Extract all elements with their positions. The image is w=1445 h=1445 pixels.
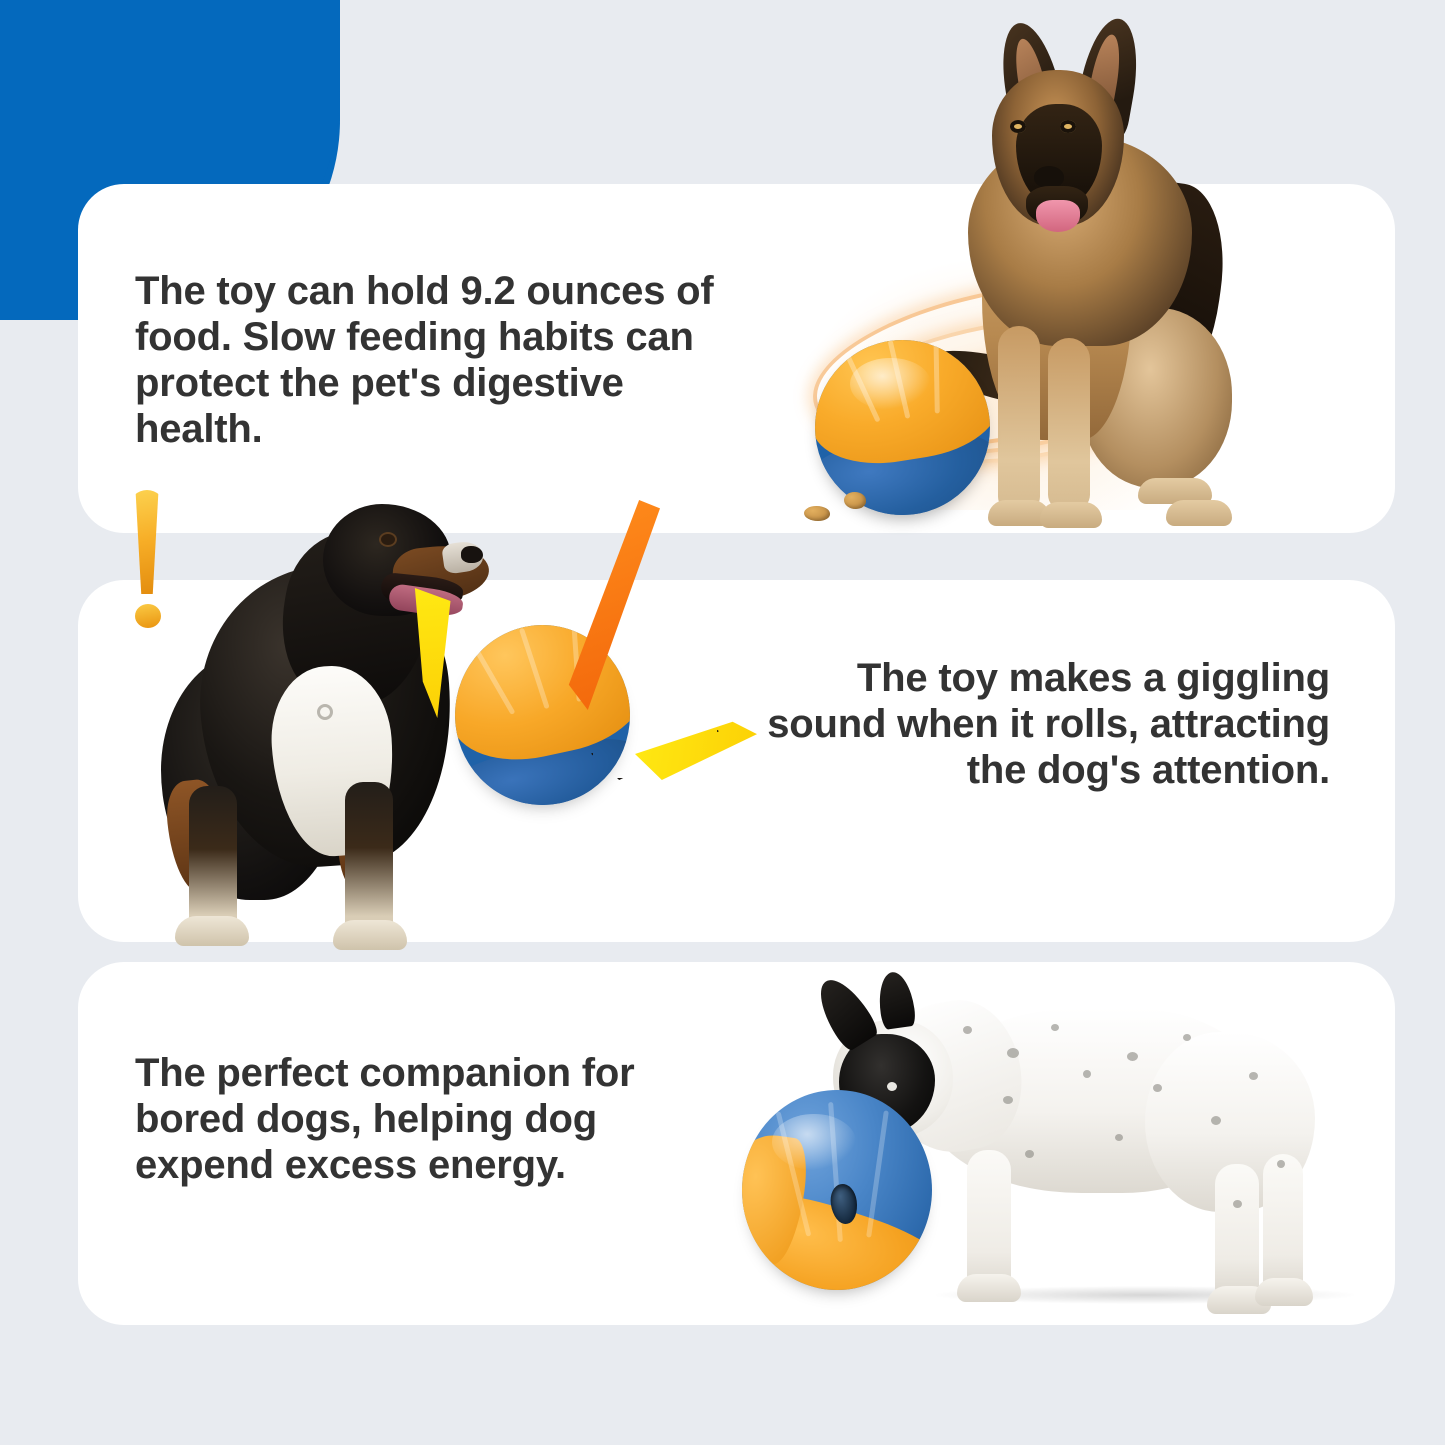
feature-text-capacity: The toy can hold 9.2 ounces of food. Slo… <box>135 268 735 452</box>
scene-french-bulldog-with-ball <box>730 962 1370 1325</box>
scene-bernese-with-giggle-ball <box>95 470 775 945</box>
treat-ball-blue-orange-with-hole <box>742 1090 932 1290</box>
treat-ball-orange-blue <box>815 340 990 515</box>
exclamation-mark-icon <box>125 490 169 630</box>
kibble-piece <box>844 492 866 509</box>
kibble-piece <box>804 506 830 521</box>
feature-text-boredom-buster: The perfect companion for bored dogs, he… <box>135 1050 675 1188</box>
feature-text-giggle-sound: The toy makes a giggling sound when it r… <box>740 655 1330 793</box>
scene-german-shepherd-with-treat-ball <box>760 0 1395 533</box>
